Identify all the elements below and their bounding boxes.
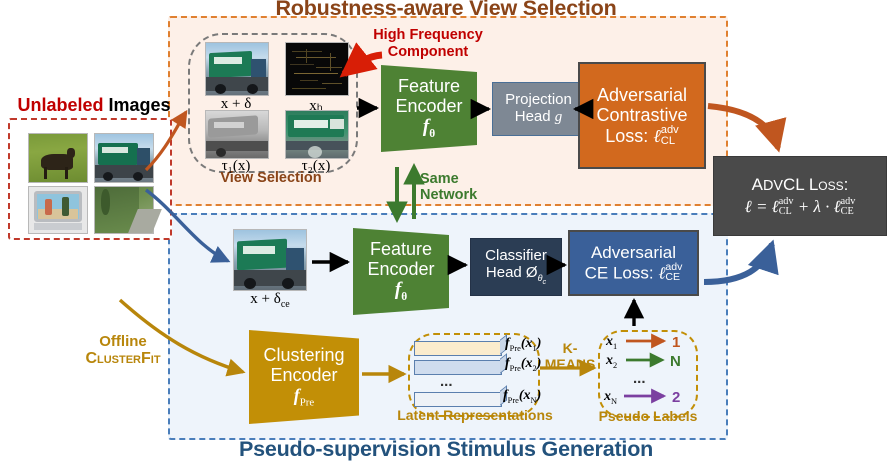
pseudo-sample-1: x1 xyxy=(606,334,617,351)
pseudo-label-2: N xyxy=(670,353,681,370)
projection-head-line2: Head g xyxy=(515,109,563,126)
same-network-line2: Network xyxy=(420,187,477,203)
latent-label-3: fPre(xN) xyxy=(503,388,541,405)
feature-encoder-top-line2: Encoder xyxy=(395,96,462,116)
view-caption-3: τ₁(x) xyxy=(198,158,274,175)
clustering-encoder-line2: Encoder xyxy=(270,365,337,385)
feature-encoder-top-symbol: fθ xyxy=(423,116,435,141)
thumbnail-truck xyxy=(94,133,154,183)
projection-head[interactable]: Projection Head g xyxy=(492,82,585,136)
thumbnail-road xyxy=(94,186,154,234)
latent-bar-3 xyxy=(414,392,502,407)
feature-encoder-top-line1: Feature xyxy=(398,76,460,96)
page-title-top: Robustness-aware View Selection xyxy=(168,0,724,21)
offline-line2: ClusterFit xyxy=(85,350,160,367)
offline-line1: Offline xyxy=(99,333,147,350)
kmeans-label: K-MEANS xyxy=(540,340,600,372)
hfc-line1: High Frequency xyxy=(373,27,483,43)
advcl-loss-title: ADVCL Loss: xyxy=(752,175,849,194)
unlabeled-images-label: Unlabeled Images xyxy=(6,95,182,116)
feature-encoder-top[interactable]: Feature Encoder fθ xyxy=(381,65,477,152)
classifier-head-line2: Head Øθc xyxy=(486,265,546,286)
bottom-input-thumbnail xyxy=(233,229,307,291)
latent-label-1: fPre(x1) xyxy=(505,336,541,353)
pseudo-ellipsis: ... xyxy=(633,370,646,387)
thumbnail-deer xyxy=(28,133,88,183)
pseudo-label-n: 2 xyxy=(672,389,680,406)
adversarial-ce-loss-box[interactable]: Adversarial CE Loss: ℓadvCE xyxy=(568,230,699,296)
view-caption-4: τ₂(x) xyxy=(278,158,354,175)
same-network-label: Same Network xyxy=(420,172,477,204)
adv-cl-line1: Adversarial xyxy=(597,85,687,105)
advcl-loss-formula: ℓ = ℓadvCL + λ · ℓadvCE xyxy=(745,197,856,216)
latent-bar-2 xyxy=(414,360,502,375)
classifier-head-line1: Classifier xyxy=(485,248,547,265)
view-thumb-high-frequency xyxy=(285,42,349,96)
thumbnail-tv xyxy=(28,186,88,234)
pseudo-sample-n: xN xyxy=(604,389,617,406)
pseudo-labels-label: Pseudo Labels xyxy=(588,408,708,424)
same-network-line1: Same xyxy=(420,171,459,187)
clustering-encoder-line1: Clustering xyxy=(263,345,344,365)
feature-encoder-bottom-line1: Feature xyxy=(370,239,432,259)
adv-ce-line2: CE Loss: ℓadvCE xyxy=(585,262,683,282)
latent-representations-label: Latent Representations xyxy=(380,407,570,423)
page-title-bottom: Pseudo-supervision Stimulus Generation xyxy=(168,437,724,462)
bottom-input-caption: x + δce xyxy=(228,291,312,310)
latent-bar-1 xyxy=(414,341,502,356)
pseudo-sample-2: x2 xyxy=(606,353,617,370)
adv-cl-line3: Loss: ℓadvCL xyxy=(605,125,679,146)
adv-cl-line2: Contrastive xyxy=(596,105,687,125)
advcl-loss-box[interactable]: ADVCL Loss: ℓ = ℓadvCL + λ · ℓadvCE xyxy=(713,156,887,236)
classifier-head[interactable]: Classifier Head Øθc xyxy=(470,238,562,296)
view-thumb-tau2 xyxy=(285,110,349,159)
hfc-line2: Component xyxy=(388,44,469,60)
clustering-encoder[interactable]: Clustering Encoder fPre xyxy=(249,330,359,424)
latent-label-2: fPre(x2) xyxy=(505,356,541,373)
images-word: Images xyxy=(103,95,170,115)
view-thumb-x-plus-delta xyxy=(205,42,269,96)
feature-encoder-bottom-line2: Encoder xyxy=(367,259,434,279)
adv-ce-line1: Adversarial xyxy=(591,243,676,262)
projection-head-line1: Projection xyxy=(505,92,572,109)
feature-encoder-bottom-symbol: fθ xyxy=(395,279,407,304)
offline-clusterfit-label: Offline ClusterFit xyxy=(58,333,188,369)
view-thumb-tau1 xyxy=(205,110,269,159)
high-frequency-component-label: High Frequency Component xyxy=(358,27,498,60)
unlabeled-word: Unlabeled xyxy=(17,95,103,115)
adversarial-contrastive-loss-box[interactable]: Adversarial Contrastive Loss: ℓadvCL xyxy=(578,62,706,169)
pseudo-label-1: 1 xyxy=(672,334,680,351)
clustering-encoder-symbol: fPre xyxy=(294,385,314,409)
latent-ellipsis: ... xyxy=(440,373,453,390)
feature-encoder-bottom[interactable]: Feature Encoder fθ xyxy=(353,228,449,315)
